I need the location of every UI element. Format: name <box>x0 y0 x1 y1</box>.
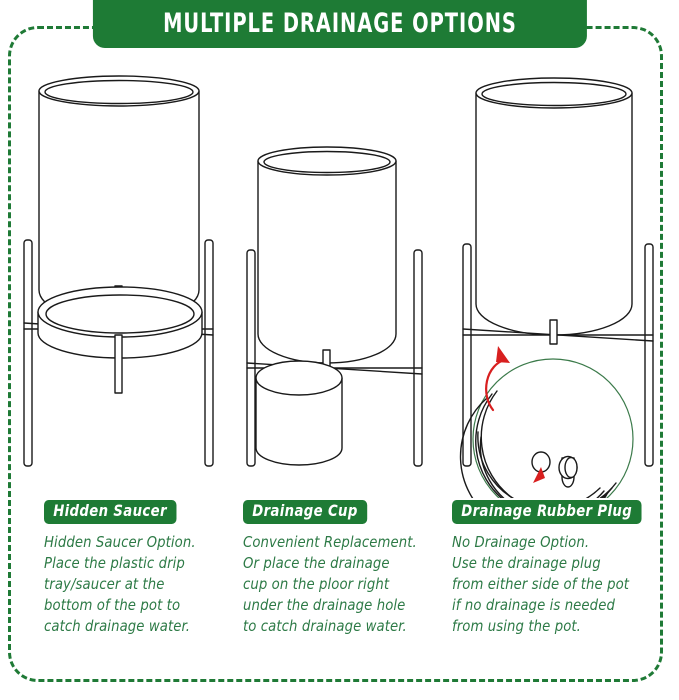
caption-column-hidden-saucer: Hidden Saucer Hidden Saucer Option. Plac… <box>0 500 213 680</box>
pot-3 <box>476 78 632 335</box>
body-text-hidden-saucer: Hidden Saucer Option. Place the plastic … <box>44 532 205 637</box>
center-leg-lower-1 <box>115 335 122 393</box>
body-text-drainage-cup: Convenient Replacement. Or place the dra… <box>243 532 417 637</box>
arrow-hole-to-pot-bottom-head <box>496 346 510 363</box>
badge-drainage-cup: Drainage Cup <box>243 500 367 524</box>
badge-hidden-saucer: Hidden Saucer <box>44 500 176 524</box>
pot-2 <box>258 147 396 363</box>
title-banner: MULTIPLE DRAINAGE OPTIONS <box>92 0 586 48</box>
illustration-drainage-cup <box>247 147 422 466</box>
badge-rubber-plug: Drainage Rubber Plug <box>452 500 641 524</box>
illustration-hidden-saucer <box>24 76 213 466</box>
caption-column-rubber-plug: Drainage Rubber Plug No Drainage Option.… <box>426 500 656 680</box>
body-text-rubber-plug: No Drainage Option. Use the drainage plu… <box>452 532 646 637</box>
pot-1 <box>39 76 199 322</box>
center-leg-3 <box>550 320 557 344</box>
illustration-rubber-plug <box>461 78 653 498</box>
infographic-page: MULTIPLE DRAINAGE OPTIONS <box>0 0 679 700</box>
caption-column-drainage-cup: Drainage Cup Convenient Replacement. Or … <box>213 500 426 680</box>
drainage-cup <box>256 361 342 465</box>
title-banner-text: MULTIPLE DRAINAGE OPTIONS <box>163 10 517 37</box>
illustrations-area <box>0 58 679 498</box>
captions-row: Hidden Saucer Hidden Saucer Option. Plac… <box>0 500 679 680</box>
